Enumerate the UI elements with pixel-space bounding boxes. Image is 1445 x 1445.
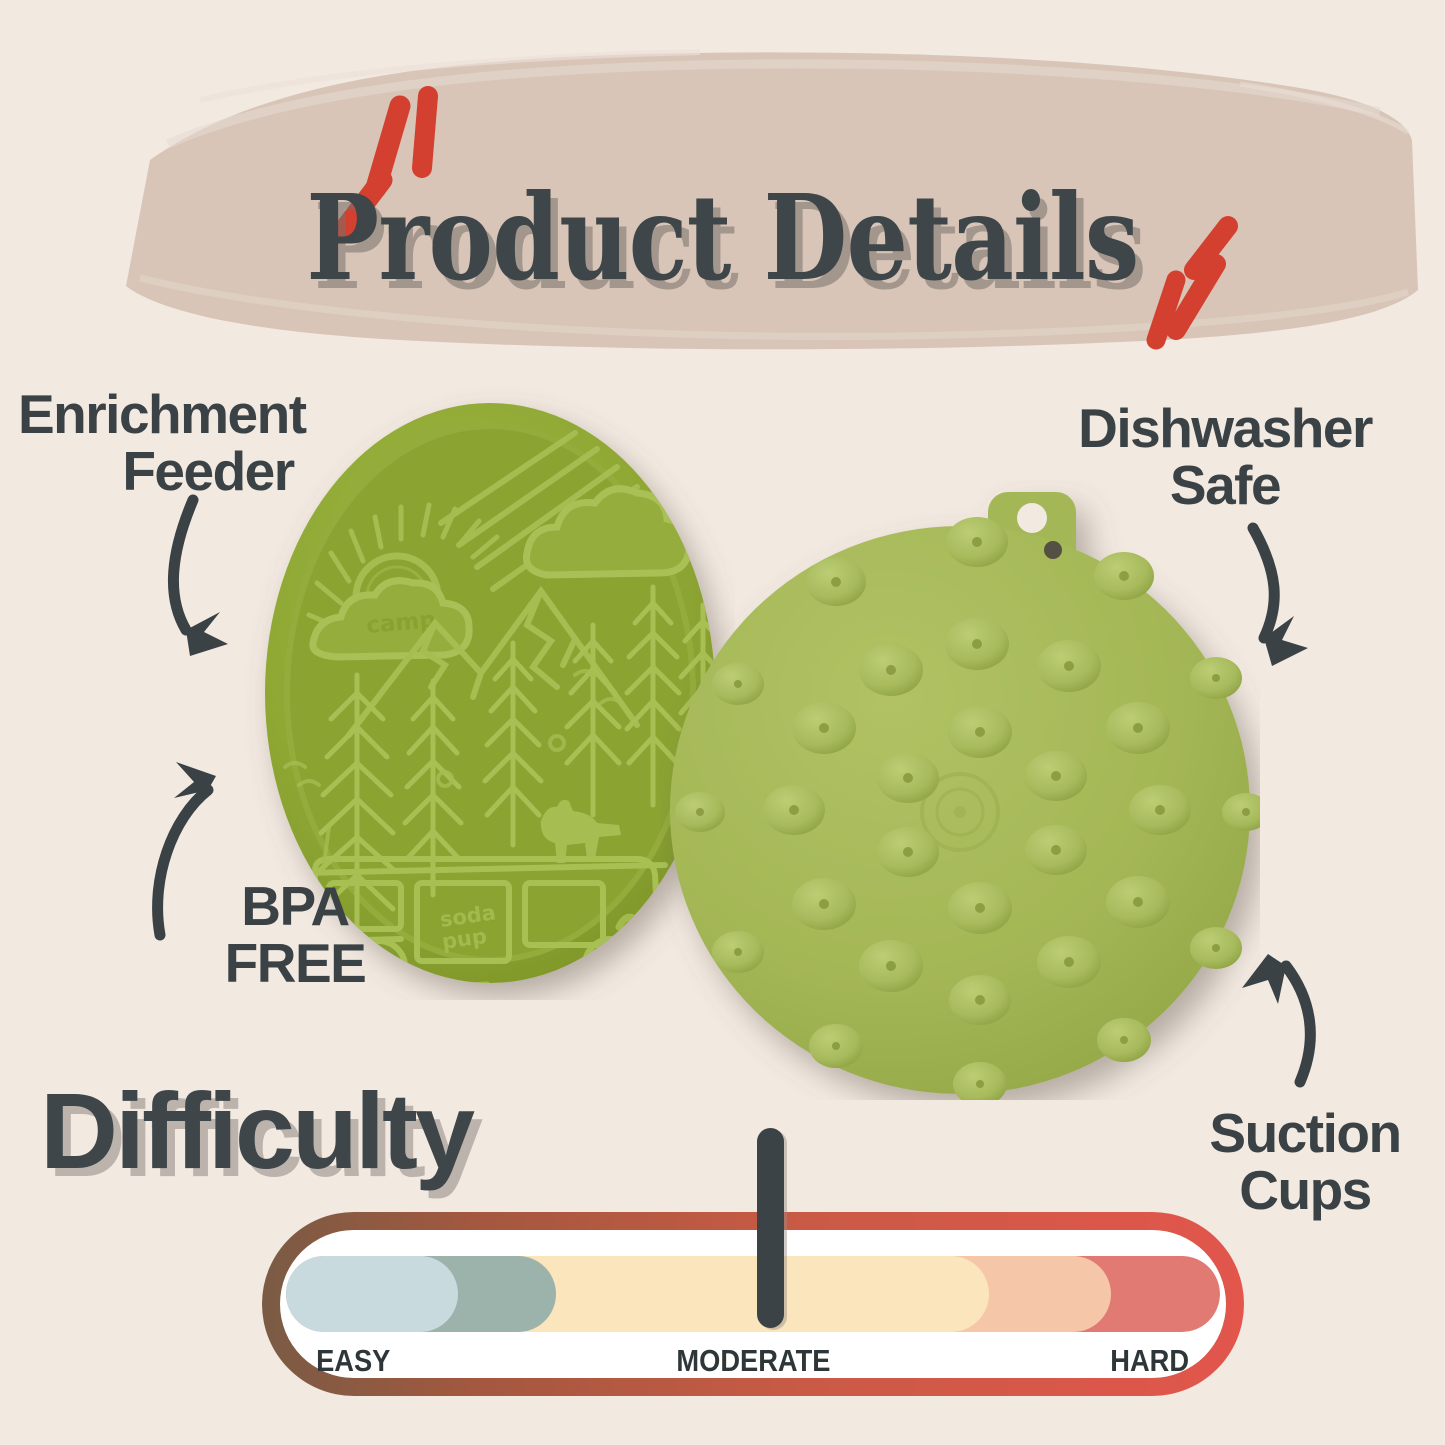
vent-hole bbox=[1044, 541, 1062, 559]
scale-label-hard: HARD bbox=[1110, 1344, 1189, 1378]
callout-enrichment-feeder: Enrichment Feeder bbox=[18, 386, 398, 500]
title-banner: Product Details bbox=[0, 40, 1445, 370]
arrow-dishwasher-head bbox=[1264, 616, 1308, 666]
callout-line-2: Feeder bbox=[18, 443, 398, 500]
callout-line-2: FREE bbox=[180, 935, 410, 992]
infographic-canvas: Product Details bbox=[0, 0, 1445, 1445]
scale-label-easy: EASY bbox=[316, 1344, 390, 1378]
callout-dishwasher-safe: Dishwasher Safe bbox=[1020, 400, 1430, 514]
callout-line-2: Safe bbox=[1020, 457, 1430, 514]
difficulty-indicator-needle bbox=[757, 1128, 784, 1328]
arrow-suction-curve bbox=[1286, 966, 1310, 1082]
callout-line-1: Suction bbox=[1155, 1105, 1445, 1162]
arrow-enrichment-head bbox=[186, 612, 228, 656]
arrow-enrichment-curve bbox=[173, 500, 193, 630]
callout-line-1: Enrichment bbox=[18, 386, 398, 443]
callout-bpa-free: BPA FREE bbox=[180, 878, 410, 992]
scale-label-moderate: MODERATE bbox=[676, 1344, 830, 1378]
segment-easy bbox=[286, 1256, 458, 1332]
meter-segments bbox=[286, 1256, 1220, 1332]
callout-line-1: BPA bbox=[180, 878, 410, 935]
callout-suction-cups: Suction Cups bbox=[1155, 1105, 1445, 1219]
difficulty-meter: EASY MODERATE HARD bbox=[258, 1208, 1248, 1400]
arrow-bpa-head bbox=[174, 762, 216, 798]
page-title: Product Details bbox=[130, 168, 1315, 307]
difficulty-heading: Difficulty bbox=[40, 1068, 472, 1193]
callout-line-1: Dishwasher bbox=[1020, 400, 1430, 457]
lick-mat-back-suction-side bbox=[660, 480, 1260, 1100]
